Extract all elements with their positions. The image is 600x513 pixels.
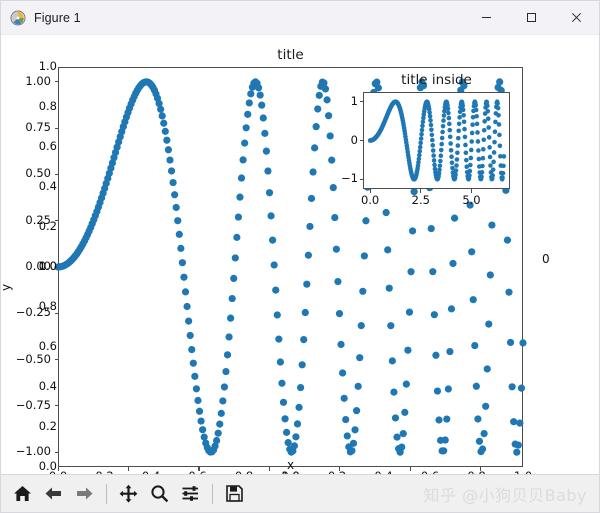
close-button[interactable]: [554, 1, 599, 34]
home-icon: [13, 484, 32, 503]
matplotlib-icon: [10, 10, 26, 26]
arrow-left-icon: [44, 484, 63, 503]
tick-label: 0: [351, 133, 358, 147]
watermark-text: 知乎 @小狗贝贝Baby: [424, 482, 588, 506]
minimize-icon: [481, 12, 492, 23]
maximize-button[interactable]: [509, 1, 554, 34]
tick-mark: [370, 189, 371, 193]
tick-mark: [471, 189, 472, 193]
pan-button[interactable]: [115, 480, 142, 507]
window-title: Figure 1: [34, 11, 81, 25]
arrow-right-icon: [75, 484, 94, 503]
subplots-config-button[interactable]: [177, 480, 204, 507]
zoom-button[interactable]: [146, 480, 173, 507]
toolbar-separator-1: [106, 484, 107, 504]
home-button[interactable]: [9, 480, 36, 507]
save-button[interactable]: [221, 480, 248, 507]
minimize-button[interactable]: [464, 1, 509, 34]
floppy-disk-icon: [225, 484, 244, 503]
magnifier-icon: [150, 484, 169, 503]
tick-label: 2.5: [412, 193, 430, 207]
sliders-icon: [181, 484, 200, 503]
tick-label: 0.0: [361, 193, 379, 207]
navigation-toolbar: 知乎 @小狗贝贝Baby: [1, 474, 599, 512]
move-cross-icon: [119, 484, 138, 503]
back-button[interactable]: [40, 480, 67, 507]
maximize-icon: [526, 12, 537, 23]
inset-axes-scatter-series: [1, 35, 599, 474]
toolbar-separator-2: [212, 484, 213, 504]
title-bar: Figure 1: [1, 1, 599, 35]
figure-window: Figure 1 title: [0, 0, 600, 513]
tick-mark: [360, 140, 364, 141]
tick-label: −1: [341, 171, 358, 185]
forward-button[interactable]: [71, 480, 98, 507]
tick-mark: [420, 189, 421, 193]
close-icon: [571, 12, 582, 23]
figure-canvas[interactable]: title −1.00−0.75−0.50−0.250.000.250.500.…: [1, 35, 599, 474]
tick-label: 5.0: [462, 193, 480, 207]
tick-label: 1: [351, 94, 358, 108]
window-controls: [464, 1, 599, 34]
tick-mark: [360, 101, 364, 102]
tick-mark: [360, 179, 364, 180]
